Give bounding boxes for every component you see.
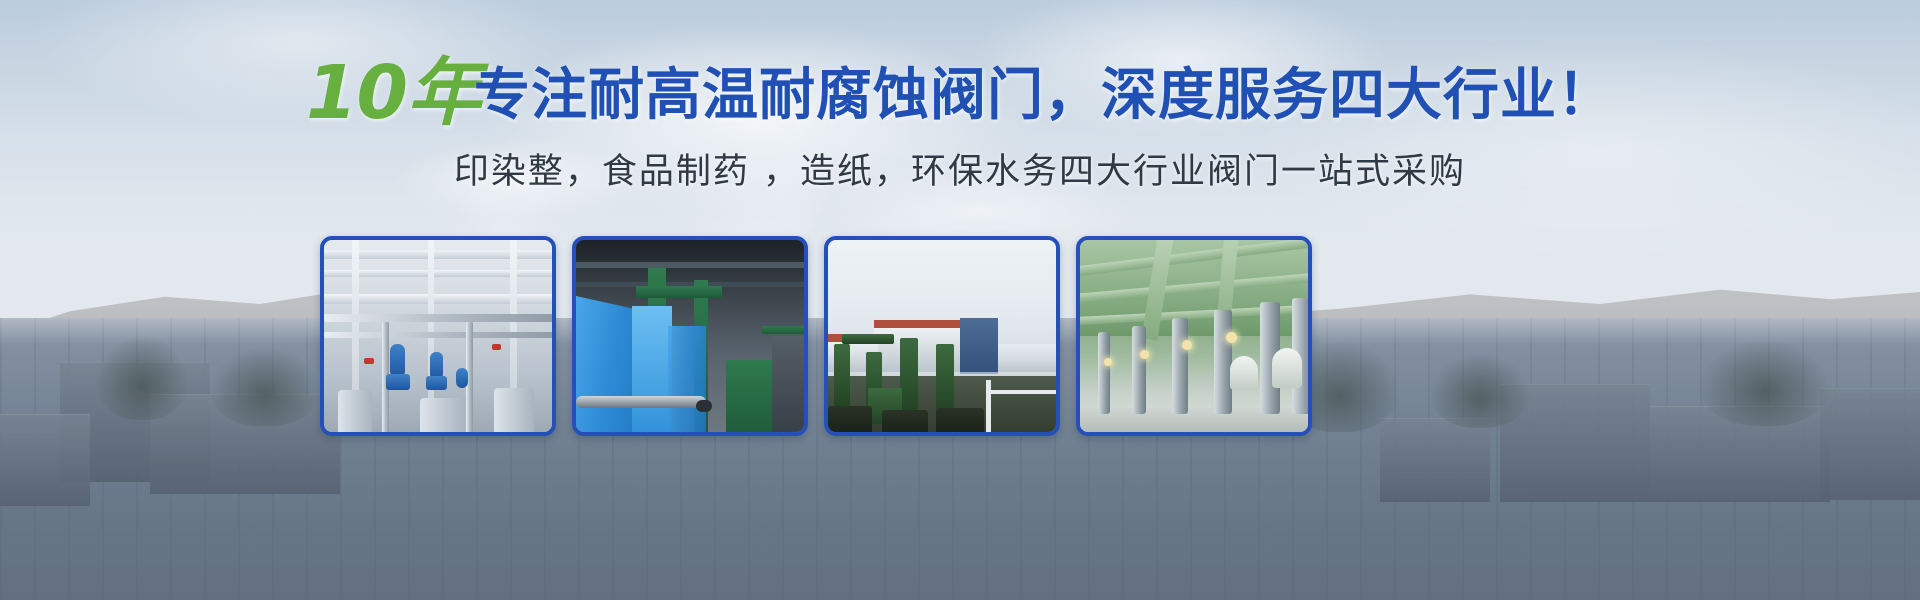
thumbnail-stainless-pipe-rack-valves[interactable] xyxy=(320,236,556,436)
banner-content: 10年专注耐高温耐腐蚀阀门，深度服务四大行业！ 印染整，食品制药 ，造纸，环保水… xyxy=(0,0,1920,600)
thumbnail-image-1 xyxy=(324,240,552,432)
thumbnail-green-corridor-reactors[interactable] xyxy=(1076,236,1312,436)
banner-subheadline: 印染整，食品制药 ，造纸，环保水务四大行业阀门一站式采购 xyxy=(0,143,1920,194)
thumbnail-image-3 xyxy=(828,240,1056,432)
thumbnail-image-2 xyxy=(576,240,804,432)
thumbnail-gallery xyxy=(320,236,1408,436)
banner-headline: 10年专注耐高温耐腐蚀阀门，深度服务四大行业！ xyxy=(0,56,1920,130)
hero-banner: 10年专注耐高温耐腐蚀阀门，深度服务四大行业！ 印染整，食品制药 ，造纸，环保水… xyxy=(0,0,1920,600)
headline-years: 10年 xyxy=(306,50,480,136)
thumbnail-image-4 xyxy=(1080,240,1308,432)
thumbnail-rooftop-industrial-plant[interactable] xyxy=(824,236,1060,436)
headline-main-text: 专注耐高温耐腐蚀阀门，深度服务四大行业！ xyxy=(474,63,1614,128)
thumbnail-textile-dyeing-blue-fabric[interactable] xyxy=(572,236,808,436)
